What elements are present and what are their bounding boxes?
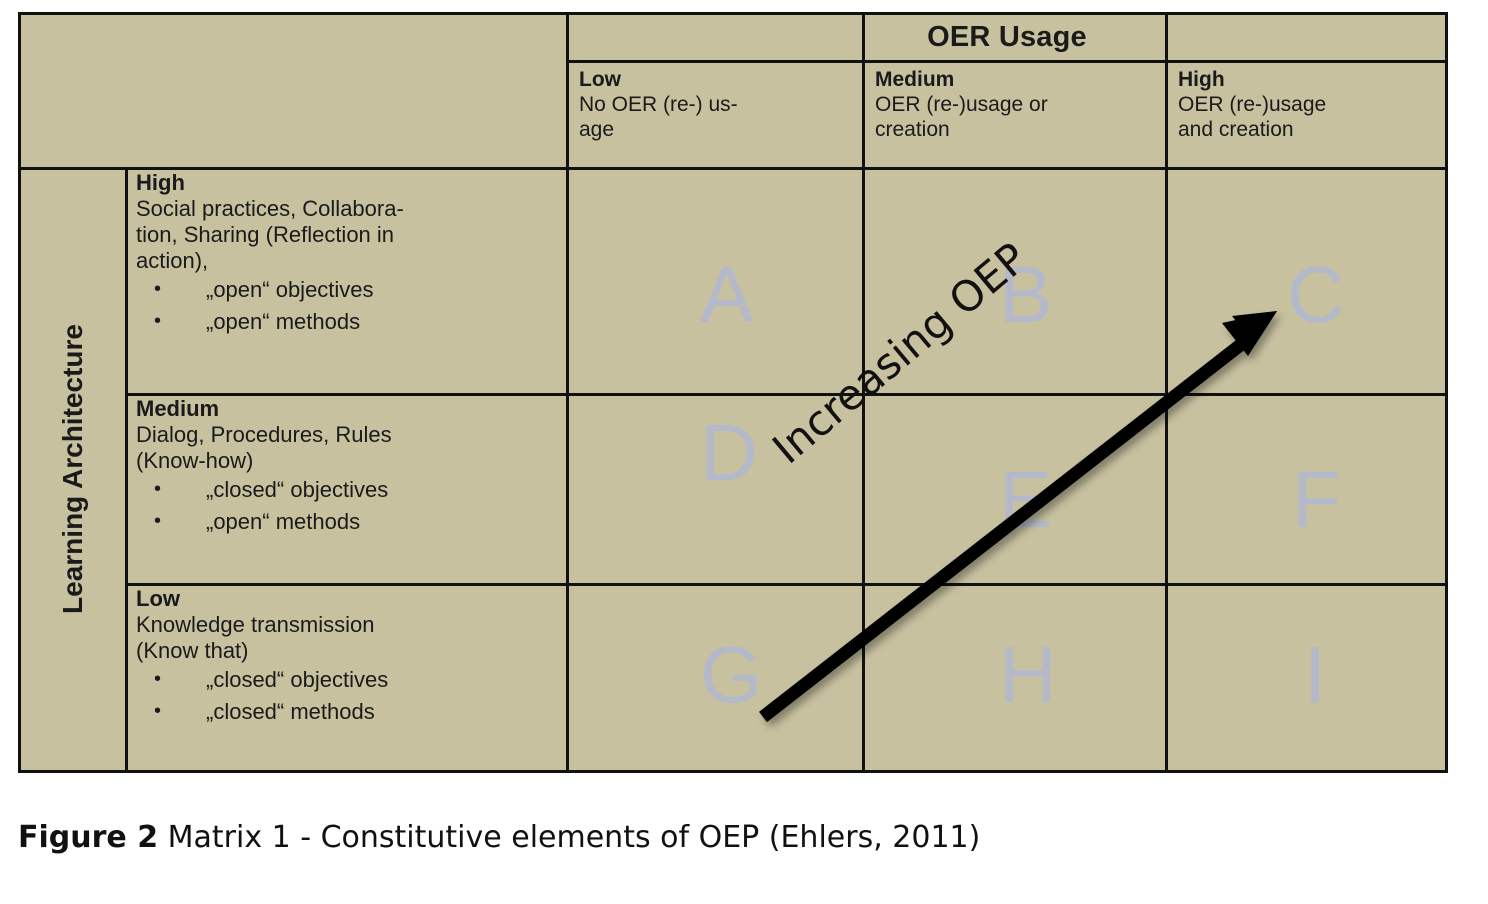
row-header-high: High Social practices, Collabora- tion, … <box>128 170 564 338</box>
column-header-medium-desc: OER (re-)usage or creation <box>875 93 1048 141</box>
column-header-high-desc: OER (re-)usage and creation <box>1178 93 1326 141</box>
figure-caption-text: Matrix 1 - Constitutive elements of OEP … <box>158 820 980 855</box>
row-axis-title: Learning Architecture <box>21 167 125 770</box>
row-header-high-desc: Social practices, Collabora- tion, Shari… <box>136 196 564 274</box>
matrix-cell-F: F <box>1292 460 1341 540</box>
matrix-cell-H: H <box>999 635 1057 715</box>
row-header-high-level: High <box>136 170 564 196</box>
column-header-low-desc: No OER (re-) us- age <box>579 93 738 141</box>
row-axis-title-text: Learning Architecture <box>57 324 89 614</box>
figure-number: Figure 2 <box>18 820 158 855</box>
matrix-cell-D: D <box>700 413 758 493</box>
matrix-cell-E: E <box>999 460 1052 540</box>
row-header-low-desc: Knowledge transmission (Know that) <box>136 612 564 664</box>
matrix-cell-A: A <box>700 255 753 335</box>
matrix-cell-I: I <box>1304 635 1326 715</box>
matrix-cell-C: C <box>1287 255 1345 335</box>
column-axis-title: OER Usage <box>569 15 1445 60</box>
row-header-medium: Medium Dialog, Procedures, Rules (Know-h… <box>128 396 564 538</box>
column-header-low-level: Low <box>579 67 854 92</box>
figure-container: OER Usage Low No OER (re-) us- age Mediu… <box>0 0 1488 904</box>
row-header-medium-bullet-1: „closed“ objectives <box>206 474 564 506</box>
row-header-high-bullet-2: „open“ methods <box>206 306 564 338</box>
row-header-low-bullet-1: „closed“ objectives <box>206 664 564 696</box>
column-header-medium-level: Medium <box>875 67 1157 92</box>
oep-matrix-table: OER Usage Low No OER (re-) us- age Mediu… <box>18 12 1448 773</box>
column-header-medium: Medium OER (re-)usage or creation <box>865 63 1165 167</box>
row-header-medium-desc: Dialog, Procedures, Rules (Know-how) <box>136 422 564 474</box>
matrix-cell-G: G <box>700 635 762 715</box>
figure-caption: Figure 2 Matrix 1 - Constitutive element… <box>18 820 980 855</box>
row-header-low-level: Low <box>136 586 564 612</box>
row-header-high-bullet-1: „open“ objectives <box>206 274 564 306</box>
column-header-low: Low No OER (re-) us- age <box>569 63 862 167</box>
column-header-high-level: High <box>1178 67 1437 92</box>
column-header-high: High OER (re-)usage and creation <box>1168 63 1445 167</box>
row-header-medium-level: Medium <box>136 396 564 422</box>
row-header-low-bullet-2: „closed“ methods <box>206 696 564 728</box>
row-header-low: Low Knowledge transmission (Know that) „… <box>128 586 564 728</box>
row-header-medium-bullet-2: „open“ methods <box>206 506 564 538</box>
